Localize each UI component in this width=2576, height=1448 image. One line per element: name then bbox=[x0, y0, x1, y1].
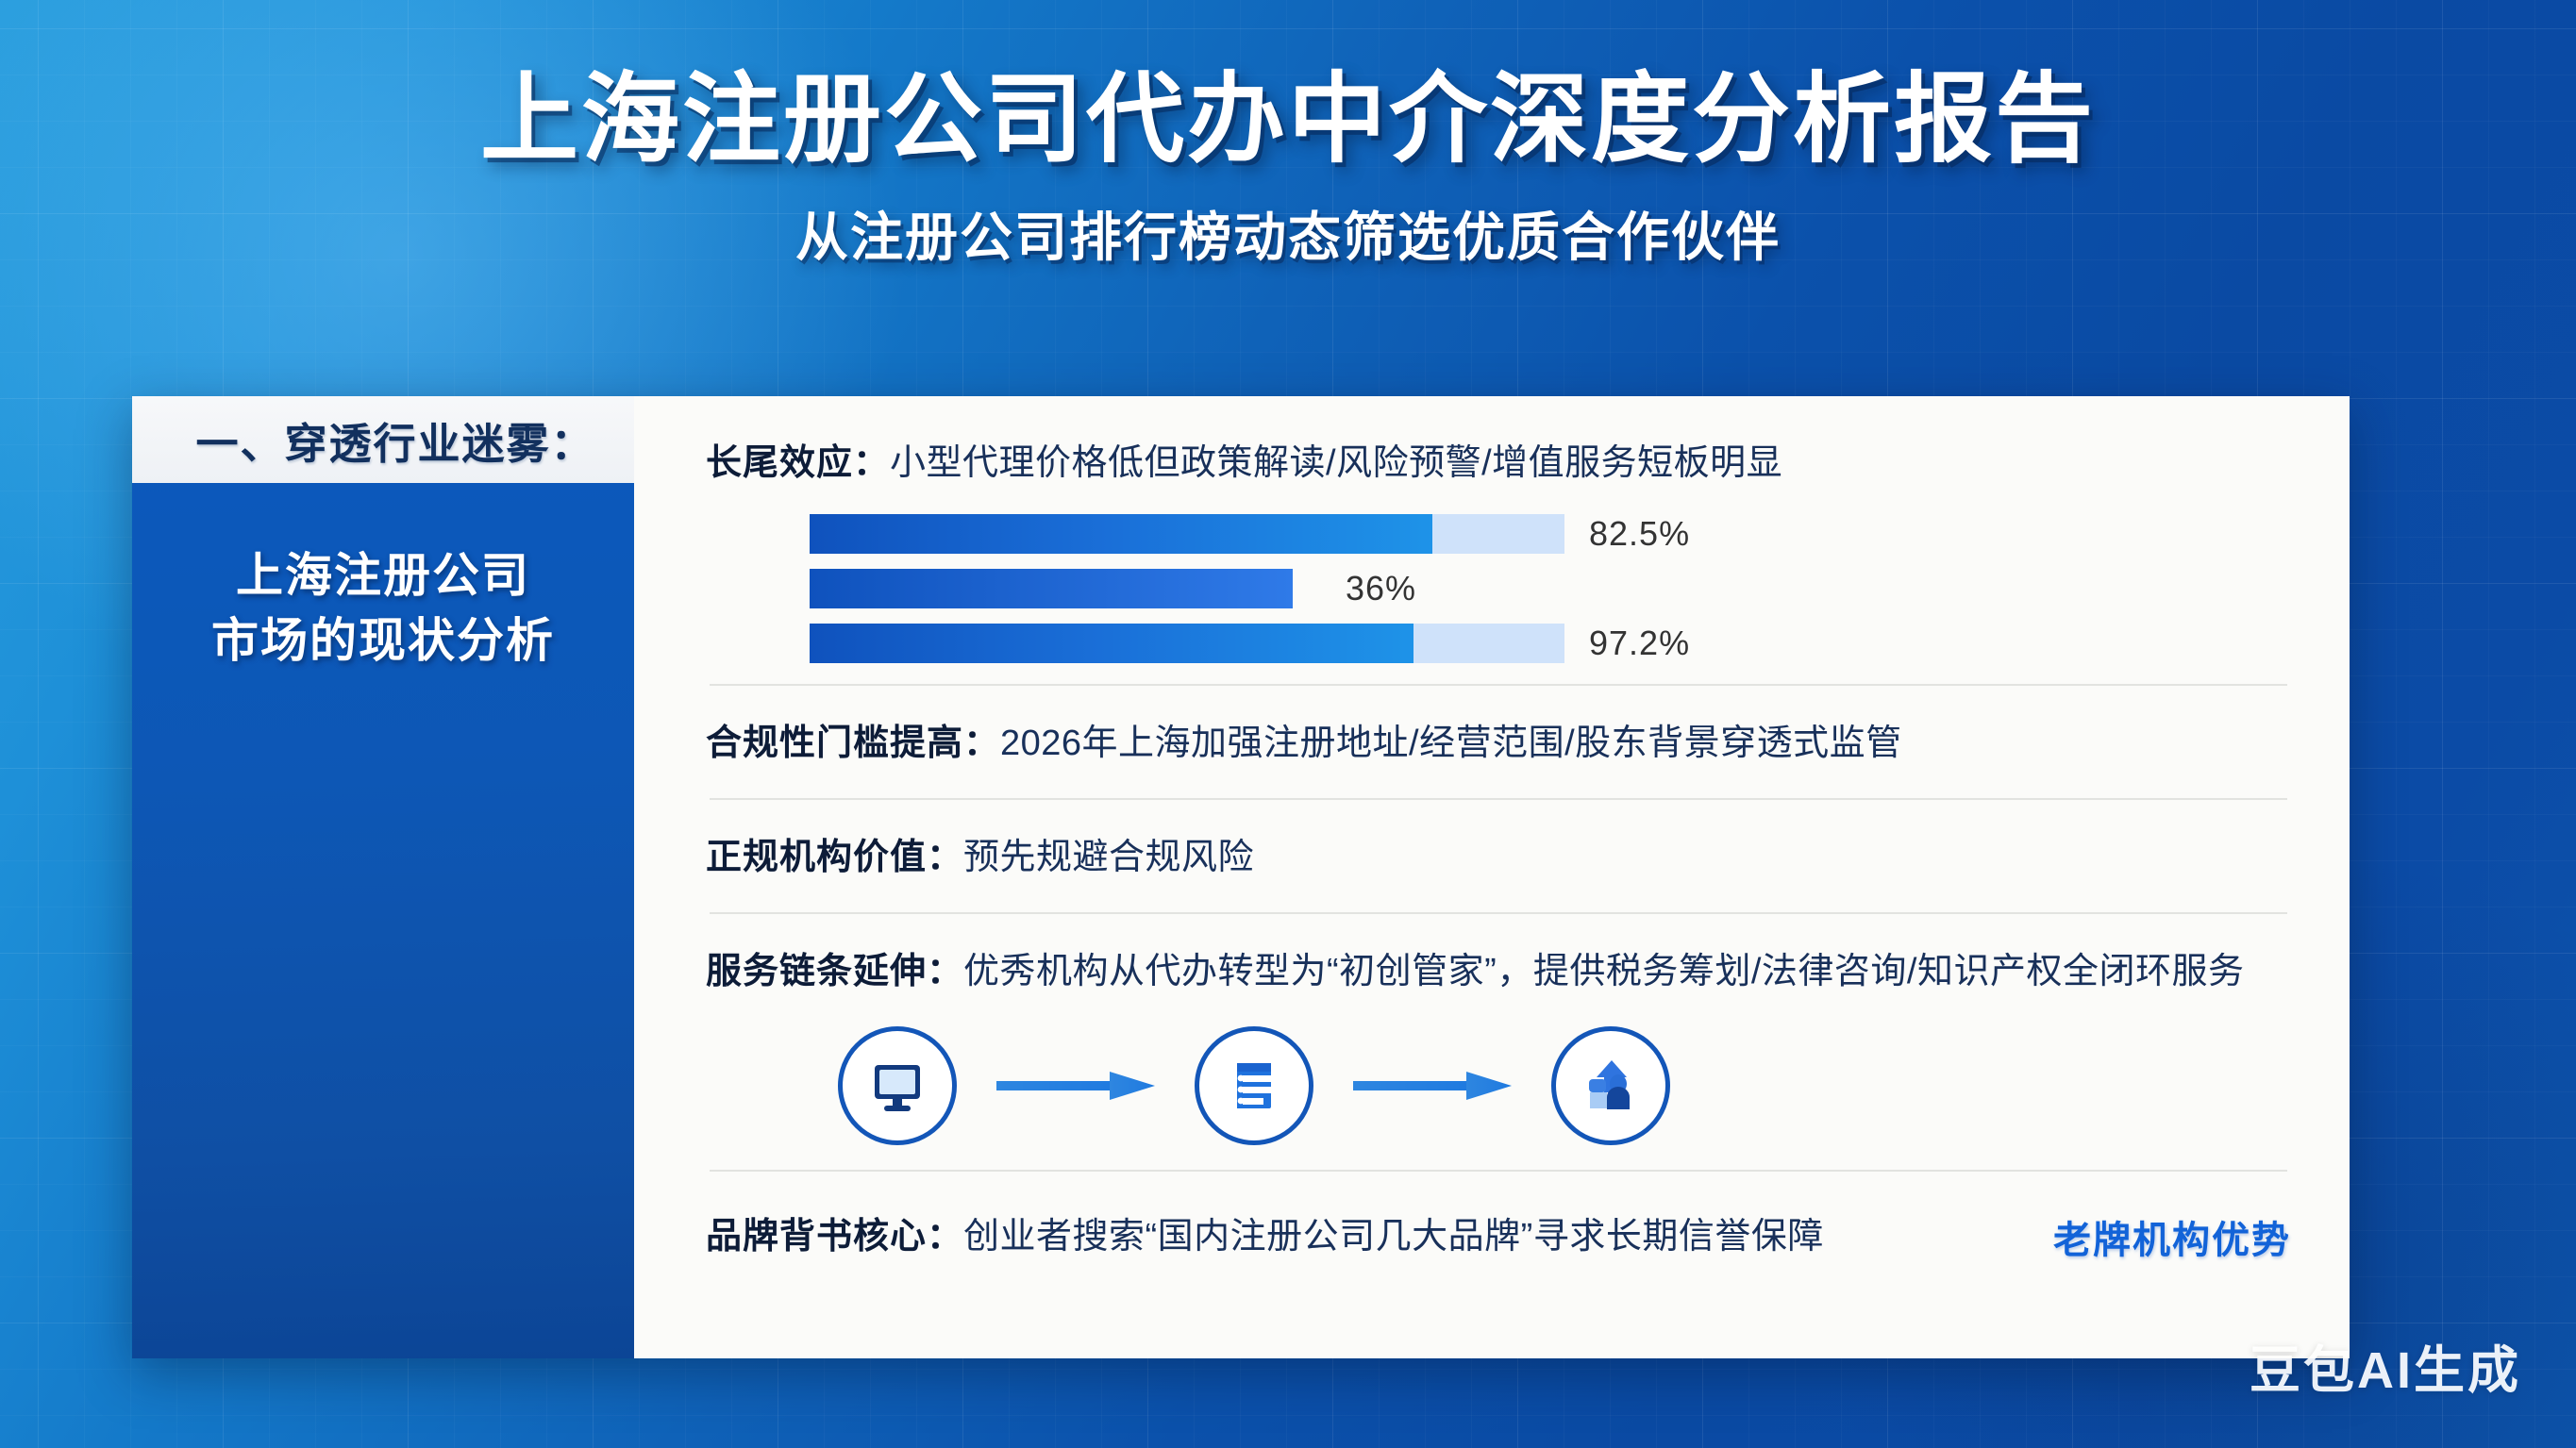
sidebar-section-label: 一、穿透行业迷雾： bbox=[195, 409, 594, 471]
arrow-right-icon-1 bbox=[996, 1070, 1155, 1102]
bar-row-3: 97.2% bbox=[810, 624, 2291, 663]
row-text-service-chain: 服务链条延伸：优秀机构从代办转型为“初创管家”，提供税务筹划/法律咨询/知识产权… bbox=[706, 946, 2291, 998]
bar-track-1 bbox=[810, 514, 1564, 554]
slide-canvas: 上海注册公司代办中介深度分析报告 从注册公司排行榜动态筛选优质合作伙伴 一、穿透… bbox=[0, 0, 2576, 1448]
arrow-right-icon-2 bbox=[1353, 1070, 1512, 1102]
row-text-brand: 品牌背书核心：创业者搜索“国内注册公司几大品牌”寻求长期信誉保障 bbox=[706, 1211, 1824, 1263]
service-flow-diagram bbox=[838, 1026, 2291, 1145]
row-body-service-chain: 优秀机构从代办转型为“初创管家”，提供税务筹划/法律咨询/知识产权全闭环服务 bbox=[963, 952, 2244, 991]
sidebar-section-header: 一、穿透行业迷雾： bbox=[132, 396, 634, 483]
row-body-value: 预先规避合规风险 bbox=[963, 838, 1254, 877]
row-label-compliance: 合规性门槛提高： bbox=[706, 724, 1000, 763]
bar-value-3: 97.2% bbox=[1589, 624, 1690, 663]
bar-track-3 bbox=[810, 624, 1564, 663]
row-label-brand: 品牌背书核心： bbox=[706, 1217, 963, 1257]
content-card: 一、穿透行业迷雾： 上海注册公司 市场的现状分析 长尾效应：小型代理价格低但政策… bbox=[132, 396, 2350, 1358]
bar-fill-2 bbox=[810, 569, 1293, 608]
bar-row-2: 36% bbox=[810, 569, 2291, 608]
bar-track-2 bbox=[810, 569, 1564, 608]
growth-people-icon bbox=[1580, 1055, 1642, 1117]
bar-row-1: 82.5% bbox=[810, 514, 2291, 554]
row-body-long-tail: 小型代理价格低但政策解读/风险预警/增值服务短板明显 bbox=[890, 443, 1782, 483]
bar-fill-1 bbox=[810, 514, 1432, 554]
row-text-compliance: 合规性门槛提高：2026年上海加强注册地址/经营范围/股东背景穿透式监管 bbox=[706, 718, 2291, 770]
content-row-compliance: 合规性门槛提高：2026年上海加强注册地址/经营范围/股东背景穿透式监管 bbox=[706, 686, 2291, 798]
sidebar-topic-line-2: 市场的现状分析 bbox=[211, 608, 555, 674]
bar-fill-3 bbox=[810, 624, 1413, 663]
content-row-brand: 品牌背书核心：创业者搜索“国内注册公司几大品牌”寻求长期信誉保障 老牌机构优势 bbox=[706, 1172, 2291, 1264]
sidebar-topic-line-1: 上海注册公司 bbox=[236, 543, 530, 608]
sidebar-topic: 上海注册公司 市场的现状分析 bbox=[132, 483, 634, 1358]
flow-node-document bbox=[1195, 1026, 1313, 1145]
row-text-value: 正规机构价值：预先规避合规风险 bbox=[706, 832, 2291, 884]
content-panel: 长尾效应：小型代理价格低但政策解读/风险预警/增值服务短板明显 82.5% 36… bbox=[634, 396, 2350, 1358]
content-row-value: 正规机构价值：预先规避合规风险 bbox=[706, 800, 2291, 912]
row-text-long-tail: 长尾效应：小型代理价格低但政策解读/风险预警/增值服务短板明显 bbox=[706, 438, 2291, 490]
row-body-compliance: 2026年上海加强注册地址/经营范围/股东背景穿透式监管 bbox=[1000, 724, 1902, 763]
row-label-value: 正规机构价值： bbox=[706, 838, 963, 877]
bar-value-1: 82.5% bbox=[1589, 514, 1690, 554]
document-list-icon bbox=[1224, 1056, 1284, 1116]
watermark: 豆包AI生成 bbox=[2250, 1328, 2521, 1403]
monitor-icon bbox=[867, 1056, 928, 1116]
content-row-long-tail: 长尾效应：小型代理价格低但政策解读/风险预警/增值服务短板明显 82.5% 36… bbox=[706, 438, 2291, 663]
flow-node-growth bbox=[1551, 1026, 1670, 1145]
page-title: 上海注册公司代办中介深度分析报告 bbox=[0, 62, 2576, 178]
page-subtitle: 从注册公司排行榜动态筛选优质合作伙伴 bbox=[0, 195, 2576, 272]
status-badge: 老牌机构优势 bbox=[2053, 1209, 2291, 1264]
bar-chart: 82.5% 36% 97.2% bbox=[810, 514, 2291, 663]
slide-header: 上海注册公司代办中介深度分析报告 从注册公司排行榜动态筛选优质合作伙伴 bbox=[0, 62, 2576, 272]
row-body-brand: 创业者搜索“国内注册公司几大品牌”寻求长期信誉保障 bbox=[963, 1217, 1824, 1257]
flow-node-monitor bbox=[838, 1026, 957, 1145]
row-label-service-chain: 服务链条延伸： bbox=[706, 952, 963, 991]
content-row-service-chain: 服务链条延伸：优秀机构从代办转型为“初创管家”，提供税务筹划/法律咨询/知识产权… bbox=[706, 914, 2291, 1145]
row-label-long-tail: 长尾效应： bbox=[706, 443, 890, 483]
sidebar-panel: 一、穿透行业迷雾： 上海注册公司 市场的现状分析 bbox=[132, 396, 634, 1358]
